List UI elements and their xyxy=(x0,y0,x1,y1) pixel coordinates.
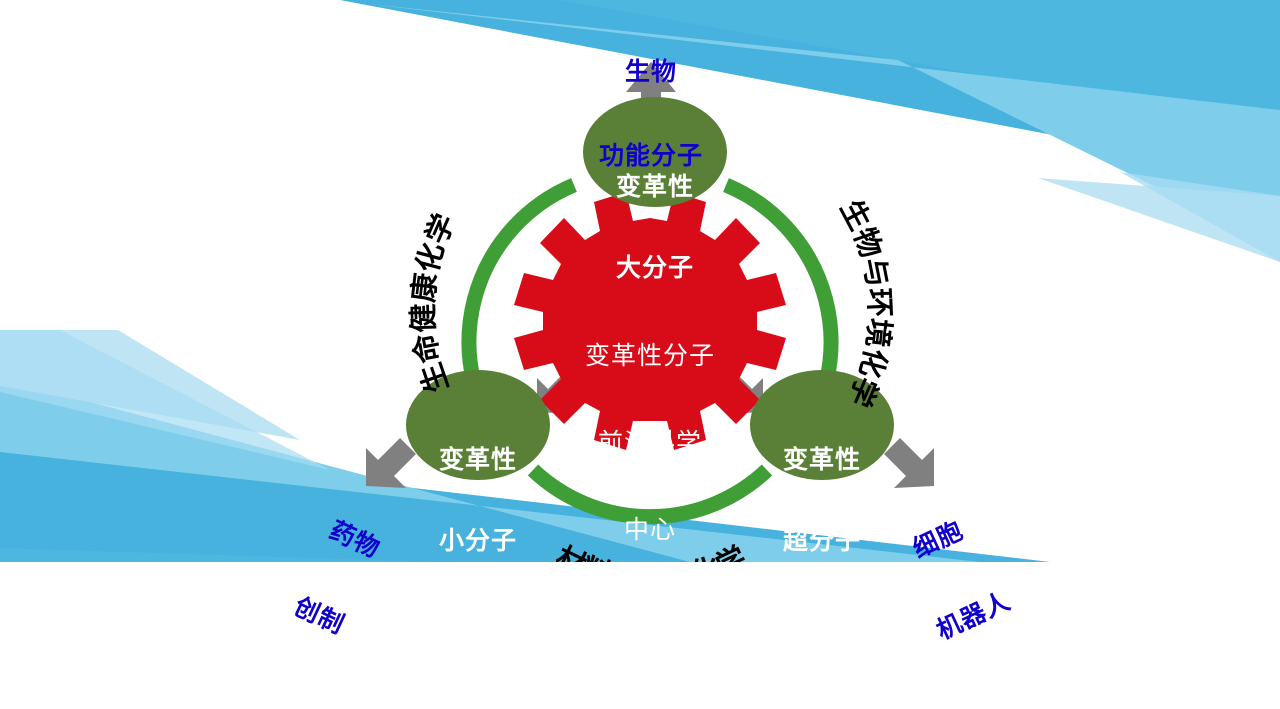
arc-label-life-health-chemistry: 生命健康化学 xyxy=(406,209,462,397)
diagram-canvas: 生命健康化学 生物与环境化学 材料与能源化学 变革性分子 前沿科学 中心 变革性… xyxy=(0,0,1280,562)
outer-label-drug-creation-line-1: 药物 xyxy=(290,500,420,580)
center-gear-line-3: 中心 xyxy=(535,515,765,544)
outer-label-cell-robot-line-2: 机器人 xyxy=(904,574,1043,659)
outer-label-biofunctional-molecule-line-1: 生物 xyxy=(561,58,741,86)
node-label-supramolecule-line-1: 变革性 xyxy=(742,446,902,473)
outer-label-drug-creation-line-2: 创制 xyxy=(254,576,384,656)
node-label-macromolecule-line-2: 大分子 xyxy=(575,254,735,281)
node-label-small-molecule-line-1: 变革性 xyxy=(398,446,558,473)
center-gear-line-2: 前沿科学 xyxy=(535,428,765,457)
outer-label-cell-robot-line-1: 细胞 xyxy=(869,498,1008,583)
center-gear-line-1: 变革性分子 xyxy=(535,341,765,370)
outer-label-biofunctional-molecule: 生物 功能分子 xyxy=(561,2,741,226)
outer-label-biofunctional-molecule-line-2: 功能分子 xyxy=(561,142,741,170)
